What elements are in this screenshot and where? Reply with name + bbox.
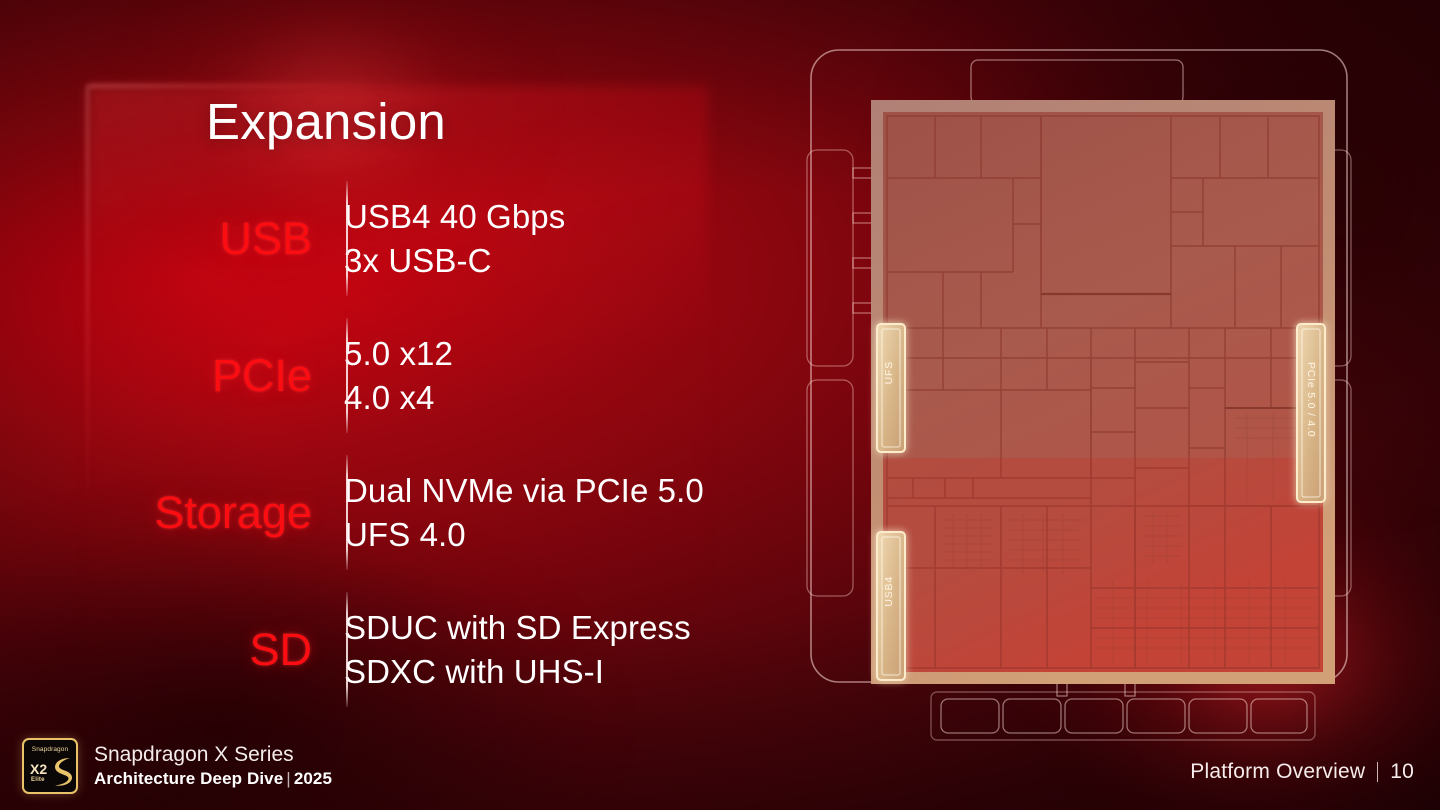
spec-values-usb: USB4 40 Gbps 3x USB-C	[344, 195, 565, 283]
spec-value-line: 5.0 x12	[344, 332, 453, 376]
logo-tier: Elite	[31, 777, 45, 783]
spec-divider	[346, 181, 348, 296]
footer-brand-text: Snapdragon X Series Architecture Deep Di…	[94, 742, 332, 790]
spec-divider	[346, 455, 348, 570]
footer-brand-line-1: Snapdragon X Series	[94, 742, 332, 768]
slide-root: UFS PCIe 5.0 / 4.0 USB4 Expansion USB US…	[0, 0, 1440, 810]
footer-divider	[1377, 762, 1378, 782]
spec-values-storage: Dual NVMe via PCIe 5.0 UFS 4.0	[344, 469, 704, 557]
spec-row-usb: USB USB4 40 Gbps 3x USB-C	[0, 170, 820, 307]
spec-value-line: SDXC with UHS-I	[344, 650, 691, 694]
spec-divider	[346, 318, 348, 433]
logo-wordmark: Snapdragon	[24, 746, 76, 753]
footer-section-label: Platform Overview	[1190, 760, 1365, 784]
footer-deck-name: Architecture Deep Dive	[94, 769, 283, 788]
spec-value-line: 4.0 x4	[344, 376, 453, 420]
snapdragon-logo-icon: Snapdragon X2 Elite	[22, 738, 78, 794]
footer-brand-line-2: Architecture Deep Dive|2025	[94, 768, 332, 790]
logo-model: X2	[30, 762, 47, 776]
spec-value-line: SDUC with SD Express	[344, 606, 691, 650]
spec-value-line: UFS 4.0	[344, 513, 704, 557]
spec-divider	[346, 592, 348, 707]
spec-label-usb: USB	[0, 216, 314, 261]
footer-pagination: Platform Overview 10	[1190, 760, 1414, 784]
spec-label-storage: Storage	[0, 490, 314, 535]
page-number: 10	[1390, 760, 1414, 784]
spec-value-line: USB4 40 Gbps	[344, 195, 565, 239]
chip-die-diagram: UFS PCIe 5.0 / 4.0 USB4	[795, 28, 1415, 748]
dragon-swoosh-icon	[50, 756, 74, 788]
spec-value-line: Dual NVMe via PCIe 5.0	[344, 469, 704, 513]
spec-values-pcie: 5.0 x12 4.0 x4	[344, 332, 453, 420]
spec-list: USB USB4 40 Gbps 3x USB-C PCIe 5.0 x12 4…	[0, 170, 820, 718]
footer-brand: Snapdragon X2 Elite Snapdragon X Series …	[22, 738, 332, 794]
spec-label-sd: SD	[0, 627, 314, 672]
spec-value-line: 3x USB-C	[344, 239, 565, 283]
spec-row-storage: Storage Dual NVMe via PCIe 5.0 UFS 4.0	[0, 444, 820, 581]
footer-separator: |	[283, 769, 294, 788]
spec-values-sd: SDUC with SD Express SDXC with UHS-I	[344, 606, 691, 694]
spec-row-pcie: PCIe 5.0 x12 4.0 x4	[0, 307, 820, 444]
page-title: Expansion	[206, 92, 446, 151]
content-column: Expansion USB USB4 40 Gbps 3x USB-C PCIe…	[0, 0, 820, 810]
footer-year: 2025	[294, 769, 332, 788]
spec-label-pcie: PCIe	[0, 353, 314, 398]
spec-row-sd: SD SDUC with SD Express SDXC with UHS-I	[0, 581, 820, 718]
